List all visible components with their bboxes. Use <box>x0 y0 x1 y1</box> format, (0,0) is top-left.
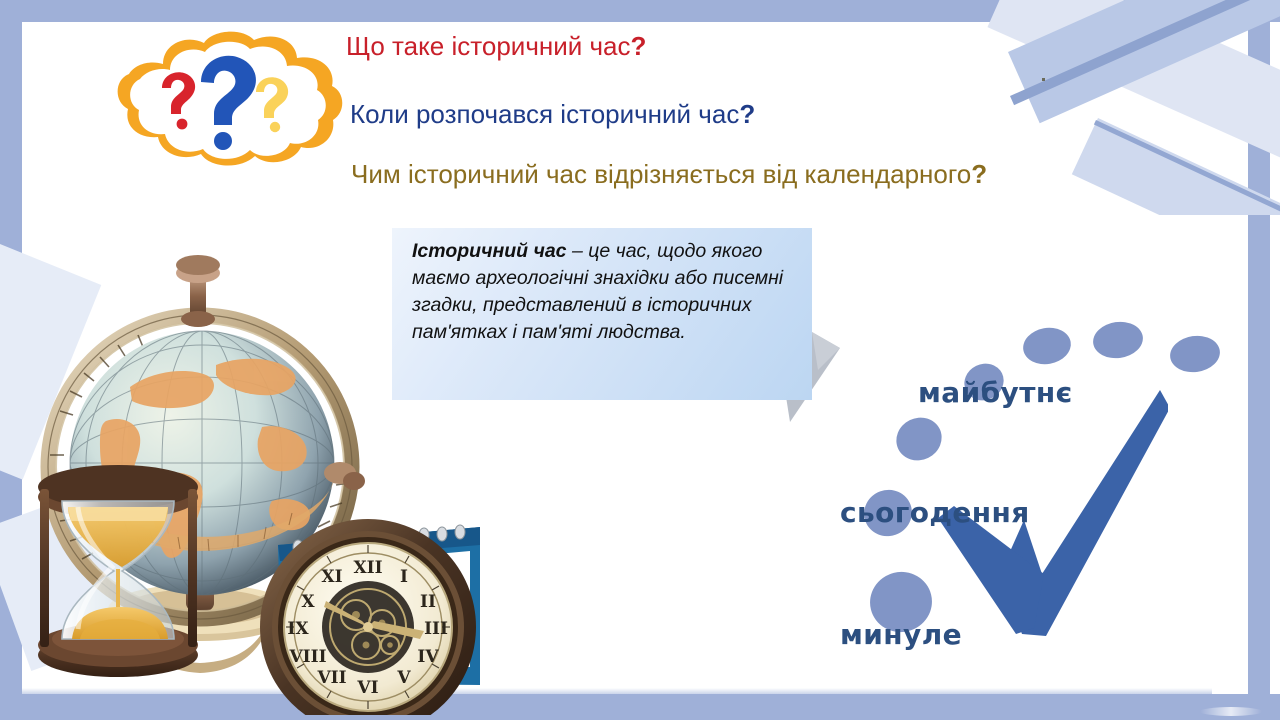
corner-watermark <box>1200 707 1262 716</box>
question-1: Що таке історичний час? <box>346 31 646 62</box>
timeline-label-present: сьогодення <box>840 496 1030 529</box>
timeline-dot-3 <box>1168 333 1223 376</box>
svg-text:IX: IX <box>287 619 309 639</box>
svg-text:VII: VII <box>316 668 346 688</box>
history-artwork-group: S M T 5 6 7 12 13 14 19 20 21 22 26 <box>10 215 480 715</box>
question-2-text: Коли розпочався історичний час <box>350 99 739 129</box>
svg-text:III: III <box>424 619 448 639</box>
thought-bubble-icon <box>100 30 352 180</box>
svg-text:XII: XII <box>353 558 382 578</box>
svg-text:X: X <box>301 592 315 612</box>
svg-text:II: II <box>420 592 436 612</box>
timeline-label-future: майбутнє <box>918 376 1073 409</box>
svg-text:I: I <box>400 567 408 587</box>
slide-canvas: Що таке історичний час? Коли розпочався … <box>0 0 1280 720</box>
question-3-mark: ? <box>971 159 987 189</box>
svg-text:XI: XI <box>321 567 342 587</box>
chevron-accent-dot <box>1042 78 1045 81</box>
svg-text:IV: IV <box>417 647 439 667</box>
question-3: Чим історичний час відрізняється від кал… <box>351 159 987 190</box>
question-2-mark: ? <box>739 99 755 129</box>
question-2: Коли розпочався історичний час? <box>350 99 755 130</box>
svg-text:VI: VI <box>356 678 378 698</box>
svg-text:VIII: VIII <box>288 647 326 667</box>
timeline-dot-1 <box>1020 324 1074 368</box>
question-1-text: Що таке історичний час <box>346 31 631 61</box>
svg-text:V: V <box>396 668 411 688</box>
question-3-text: Чим історичний час відрізняється від кал… <box>351 159 971 189</box>
question-1-mark: ? <box>631 31 647 61</box>
timeline-label-past: минуле <box>840 618 962 651</box>
timeline-dot-2 <box>1091 319 1146 362</box>
corner-chevron-decoration <box>980 0 1280 215</box>
timeline-graphic: майбутнє сьогодення минуле <box>818 300 1238 680</box>
